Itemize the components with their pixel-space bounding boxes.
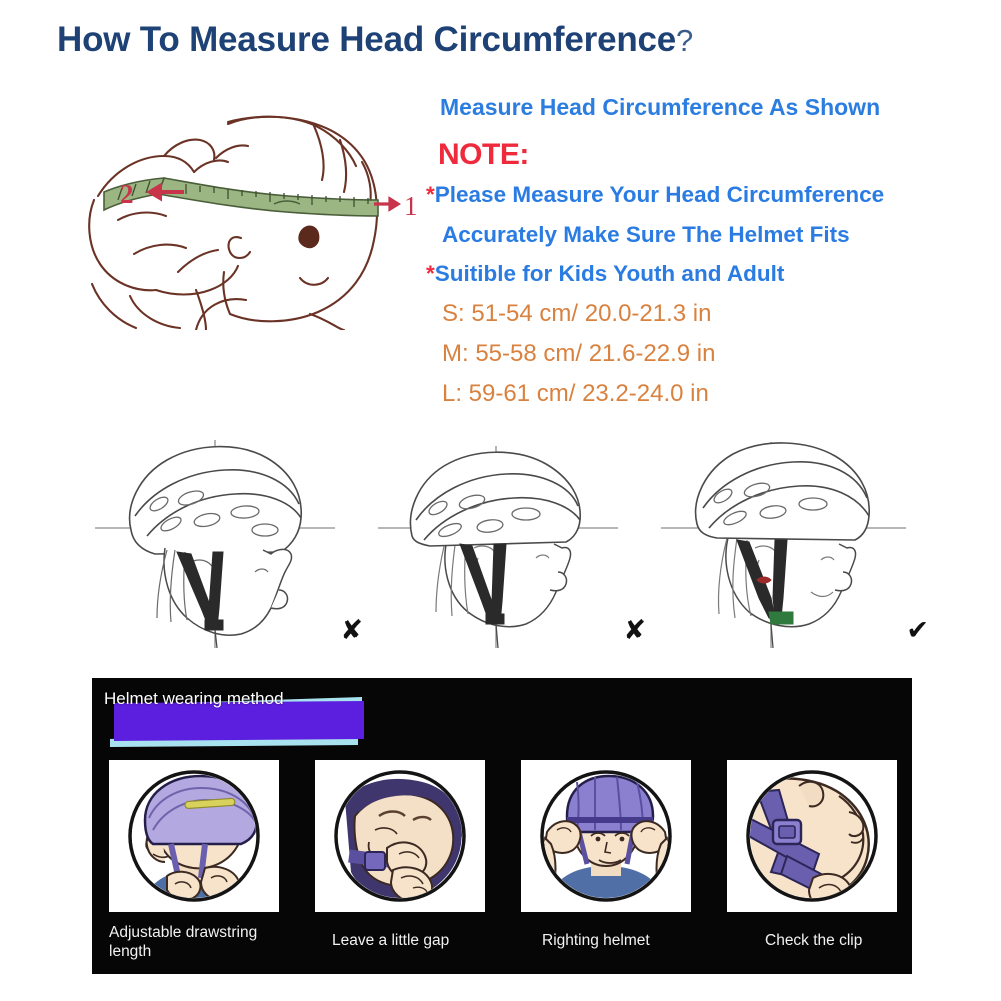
card-caption-leave-a-gap: Leave a little gap [332,931,522,950]
check-the-clip-illustration [727,760,897,912]
measure-headline: Measure Head Circumference As Shown [440,96,980,119]
card-caption-righting-helmet: Righting helmet [542,931,732,950]
righting-helmet-illustration [521,760,691,912]
instruction-text-3: Suitible for Kids Youth and Adult [435,261,785,286]
fit-diagram-3-svg [661,432,941,652]
page-title-text: How To Measure Head Circumference [57,20,676,59]
wearing-card-check-the-clip [727,760,897,912]
helmet-wearing-method-panel: Helmet wearing method [92,678,912,974]
fit-diagram-tilted-forward: ✘ [378,432,658,652]
wearing-method-banner-label: Helmet wearing method [104,689,284,709]
svg-text:1: 1 [404,191,418,221]
bullet-star-3: * [426,261,435,286]
note-label: NOTE: [438,140,980,170]
wearing-card-righting-helmet [521,760,691,912]
head-illustration-svg: 1 2 [78,100,418,330]
card-caption-adjustable-drawstring: Adjustable drawstring length [109,923,299,962]
wearing-method-cards [109,760,895,915]
instructions-block: Measure Head Circumference As Shown NOTE… [420,96,980,420]
fit-diagram-2-svg [378,432,658,652]
head-circumference-illustration: 1 2 [78,100,418,330]
marker-1: 1 [374,191,418,221]
instruction-line-3: *Suitible for Kids Youth and Adult [426,263,980,286]
fit-diagram-correct: ✔ [661,432,941,652]
fit-mark-1: ✘ [340,615,363,646]
leave-a-gap-illustration [315,760,485,912]
page-title: How To Measure Head Circumference? [57,20,693,60]
tape-measure [104,178,378,216]
fit-mark-2: ✘ [623,615,646,646]
instruction-line-1: *Please Measure Your Head Circumference [426,184,980,207]
wearing-card-adjustable-drawstring [109,760,279,912]
card-caption-check-the-clip: Check the clip [765,931,955,950]
helmet-fit-diagrams: ✘ [95,432,940,652]
instruction-text-1: Please Measure Your Head Circumference [435,182,884,207]
size-row-small: S: 51-54 cm/ 20.0-21.3 in [442,300,980,328]
instruction-line-2: Accurately Make Sure The Helmet Fits [442,224,980,247]
wearing-card-leave-a-gap [315,760,485,912]
size-row-medium: M: 55-58 cm/ 21.6-22.9 in [442,340,980,368]
question-mark: ? [676,23,693,58]
fit-diagram-tilted-back: ✘ [95,432,375,652]
bullet-star-1: * [426,182,435,207]
svg-text:2: 2 [120,179,134,209]
size-row-large: L: 59-61 cm/ 23.2-24.0 in [442,380,980,408]
adjustable-drawstring-illustration [109,760,279,912]
fit-mark-3: ✔ [906,615,929,646]
fit-diagram-1-svg [95,432,375,652]
